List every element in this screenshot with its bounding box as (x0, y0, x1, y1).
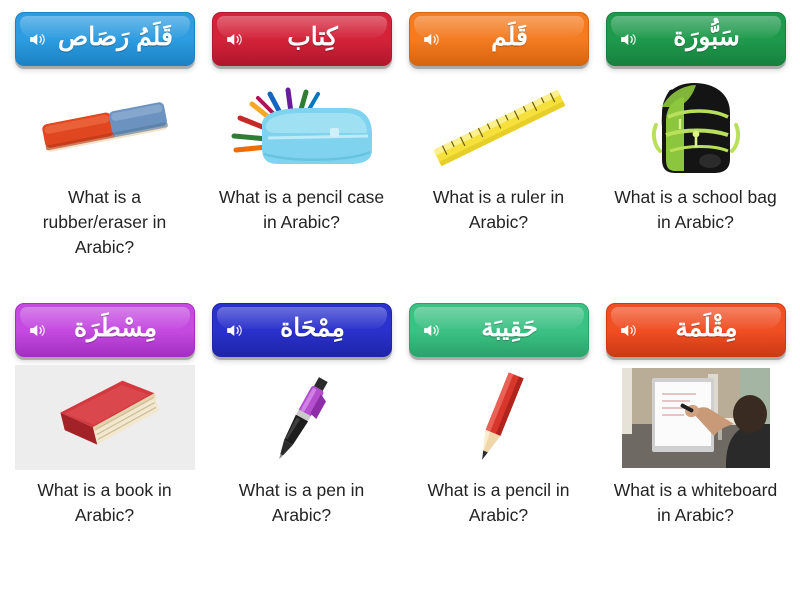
matching-board: قَلَمُ رَصَاص What is a rubber/eraser in… (0, 0, 800, 600)
pen-image (212, 365, 392, 470)
term-button-pencil-case[interactable]: كِتاب (212, 12, 392, 66)
card-pen[interactable]: مِمْحَاة What is a pen in Arabic? (203, 299, 400, 590)
card-whiteboard[interactable]: مِقْلَمَة (597, 299, 794, 590)
speaker-icon[interactable] (223, 28, 245, 50)
card-ruler[interactable]: قَلَم (400, 8, 597, 299)
term-button-book[interactable]: مِسْطَرَة (15, 303, 195, 357)
eraser-image (15, 74, 195, 179)
term-button-whiteboard[interactable]: مِقْلَمَة (606, 303, 786, 357)
speaker-icon[interactable] (617, 319, 639, 341)
card-pencil[interactable]: حَقِيبَة What is a pencil in Arabic? (400, 299, 597, 590)
term-button-school-bag[interactable]: سَبُّورَة (606, 12, 786, 66)
card-book[interactable]: مِسْطَرَة What is a book in Arabic? (6, 299, 203, 590)
speaker-icon[interactable] (617, 28, 639, 50)
card-caption: What is a rubber/eraser in Arabic? (19, 185, 191, 260)
card-caption: What is a book in Arabic? (19, 478, 191, 528)
term-button-rubber-eraser[interactable]: قَلَمُ رَصَاص (15, 12, 195, 66)
speaker-icon[interactable] (26, 28, 48, 50)
backpack-image (606, 74, 786, 179)
card-caption: What is a pencil in Arabic? (413, 478, 585, 528)
speaker-icon[interactable] (420, 319, 442, 341)
speaker-icon[interactable] (420, 28, 442, 50)
term-text: سَبُّورَة (639, 23, 775, 55)
term-button-pen[interactable]: مِمْحَاة (212, 303, 392, 357)
card-caption: What is a school bag in Arabic? (610, 185, 782, 235)
speaker-icon[interactable] (223, 319, 245, 341)
term-text: مِسْطَرَة (48, 314, 184, 346)
term-text: حَقِيبَة (442, 314, 578, 346)
term-text: مِقْلَمَة (639, 314, 775, 346)
card-caption: What is a whiteboard in Arabic? (610, 478, 782, 528)
card-caption: What is a pencil case in Arabic? (216, 185, 388, 235)
pencil-case-image (212, 74, 392, 179)
card-pencil-case[interactable]: كِتاب (203, 8, 400, 299)
term-text: مِمْحَاة (245, 314, 381, 346)
term-button-ruler[interactable]: قَلَم (409, 12, 589, 66)
term-text: قَلَم (442, 23, 578, 55)
card-school-bag[interactable]: سَبُّورَة What is a school bag in Arabic… (597, 8, 794, 299)
book-image (15, 365, 195, 470)
card-caption: What is a ruler in Arabic? (413, 185, 585, 235)
pencil-image (409, 365, 589, 470)
ruler-image (409, 74, 589, 179)
term-text: كِتاب (245, 23, 381, 55)
speaker-icon[interactable] (26, 319, 48, 341)
whiteboard-image (606, 365, 786, 470)
term-text: قَلَمُ رَصَاص (48, 23, 184, 55)
card-caption: What is a pen in Arabic? (216, 478, 388, 528)
term-button-pencil[interactable]: حَقِيبَة (409, 303, 589, 357)
card-rubber-eraser[interactable]: قَلَمُ رَصَاص What is a rubber/eraser in… (6, 8, 203, 299)
